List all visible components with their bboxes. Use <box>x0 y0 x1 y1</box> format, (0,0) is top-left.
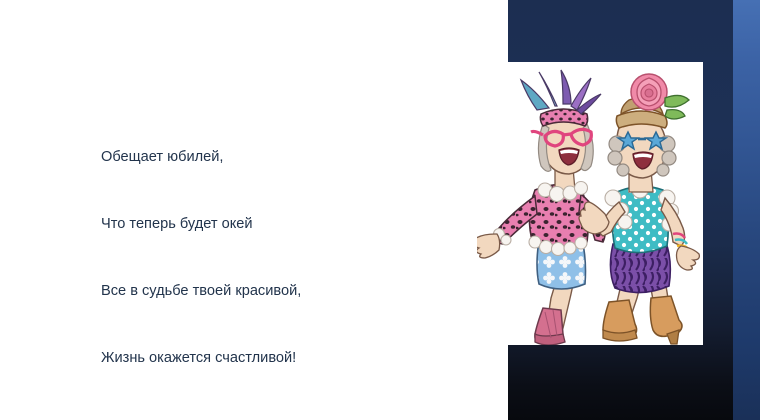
poem-line: Что теперь будет окей <box>101 213 431 235</box>
poem-line: Все в судьбе твоей красивой, <box>101 280 431 302</box>
panel-accent-stripe <box>733 0 760 420</box>
rose-leaves <box>665 95 689 119</box>
slide: Обещает юбилей, Что теперь будет окей Вс… <box>0 0 760 420</box>
left-hand <box>477 234 500 258</box>
pink-rose <box>631 74 667 110</box>
poem-stanza-1: Обещает юбилей, Что теперь будет окей Вс… <box>101 102 431 414</box>
illustration-card <box>495 62 703 345</box>
poem-text: Обещает юбилей, Что теперь будет окей Вс… <box>101 35 431 420</box>
right-lady <box>579 74 699 344</box>
feathers <box>521 70 601 114</box>
two-celebrating-ladies-illustration <box>477 62 703 345</box>
poem-line: Обещает юбилей, <box>101 146 431 168</box>
right-hand <box>677 246 700 270</box>
poem-line: Жизнь окажется счастливой! <box>101 347 431 369</box>
